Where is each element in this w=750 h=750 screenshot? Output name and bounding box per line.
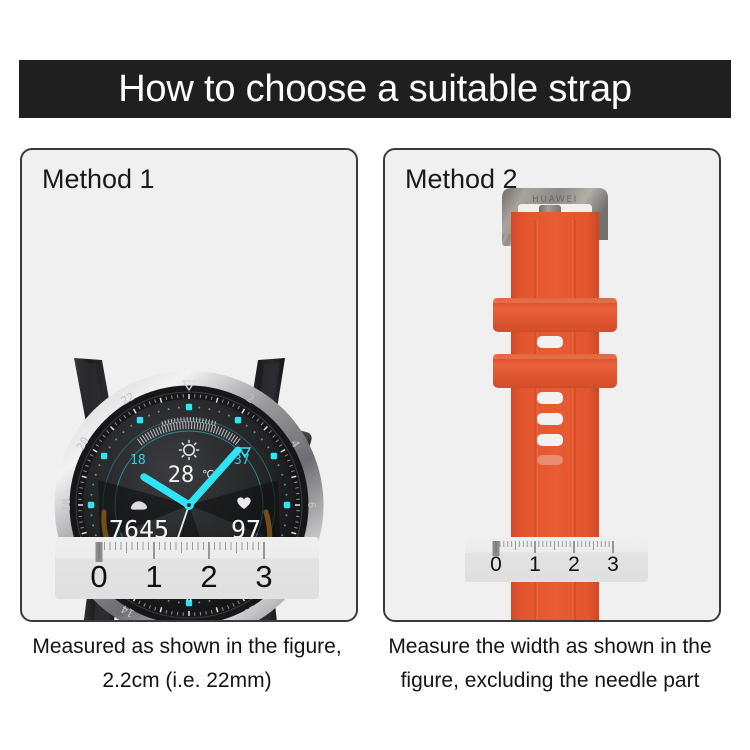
ruler-number: 3 [597,554,629,575]
method-2-caption-line-1: Measure the width as shown in the [383,630,717,664]
method-1-caption-line-1: Measured as shown in the figure, [20,630,354,664]
method-2-caption: Measure the width as shown in the figure… [383,630,717,698]
ruler-method-1: 0123 [55,537,319,599]
strap-keeper-2 [493,354,617,388]
ruler-number: 2 [193,561,225,592]
header-banner: How to choose a suitable strap [19,60,731,118]
ruler-number: 3 [248,561,280,592]
ruler-number: 0 [480,554,512,575]
ruler-method-2: 0123 [465,537,648,582]
method-2-caption-line-2: figure, excluding the needle part [383,664,717,698]
ruler-number: 1 [138,561,170,592]
inner-number-left: 18 [130,453,146,468]
method-1-caption: Measured as shown in the figure, 2.2cm (… [20,630,354,698]
ruler-number: 1 [519,554,551,575]
strap-keeper-1 [493,298,617,332]
bezel-numeral: 6 [305,502,318,509]
buckle-brand-text: HUAWEI [532,195,578,205]
page-root: How to choose a suitable strap Method 1 [0,0,750,750]
method-1-caption-line-2: 2.2cm (i.e. 22mm) [20,664,354,698]
ruler-number: 2 [558,554,590,575]
page-title: How to choose a suitable strap [118,70,632,108]
temperature-value: 28 [168,463,195,488]
method-1-panel: Method 1 [20,148,358,622]
ruler-number: 0 [83,561,115,592]
bezel-numeral: 18 [60,498,73,511]
method-2-panel: Method 2 [383,148,721,622]
